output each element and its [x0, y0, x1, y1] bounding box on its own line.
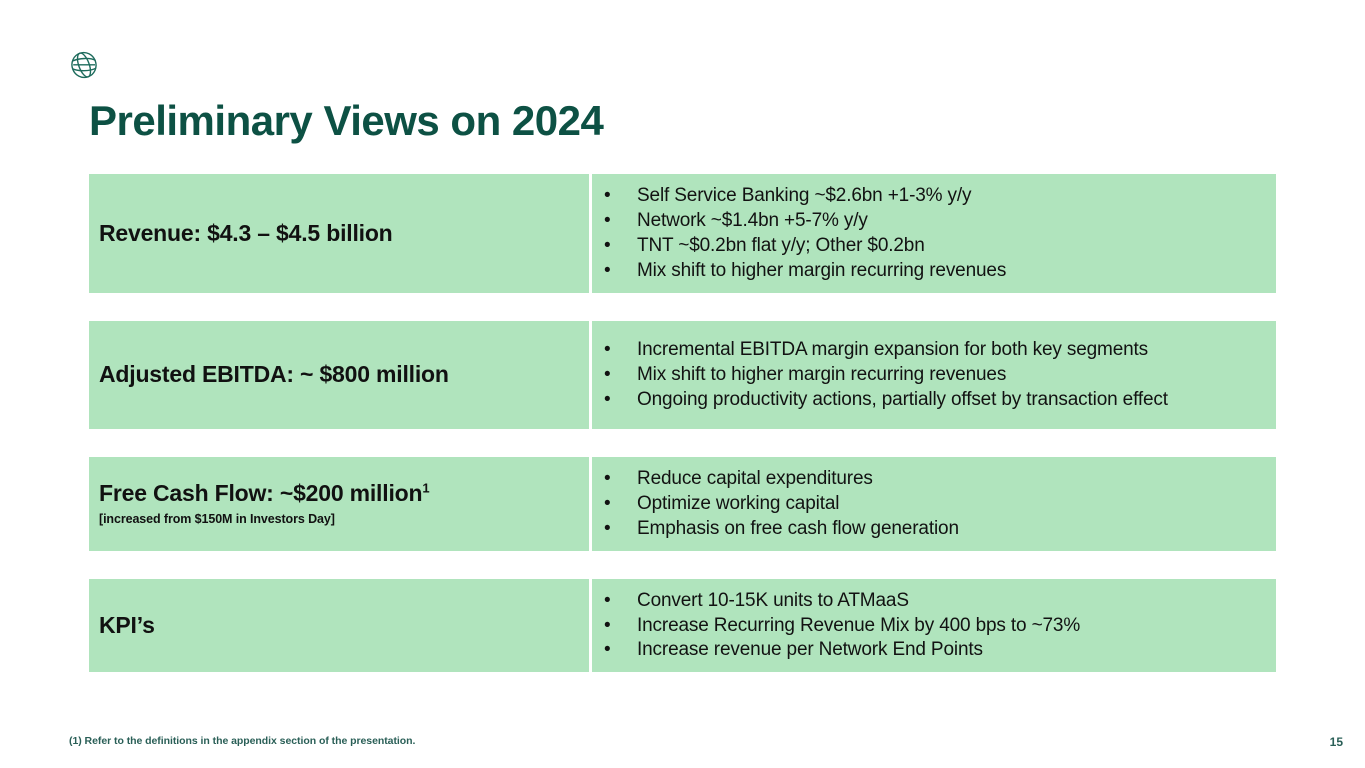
list-item: •TNT ~$0.2bn flat y/y; Other $0.2bn	[592, 234, 1264, 258]
page-title: Preliminary Views on 2024	[89, 98, 603, 144]
row-label-cell: Free Cash Flow: ~$200 million1 [increase…	[89, 457, 589, 551]
table-row: KPI’s •Convert 10-15K units to ATMaaS •I…	[89, 579, 1276, 673]
bullet-icon: •	[604, 363, 611, 387]
list-item-text: Mix shift to higher margin recurring rev…	[637, 364, 1006, 385]
list-item-text: Increase revenue per Network End Points	[637, 639, 983, 660]
list-item-text: Mix shift to higher margin recurring rev…	[637, 260, 1006, 281]
list-item: •Mix shift to higher margin recurring re…	[592, 259, 1264, 283]
table-row: Revenue: $4.3 – $4.5 billion •Self Servi…	[89, 174, 1276, 293]
list-item-text: Convert 10-15K units to ATMaaS	[637, 590, 909, 611]
bullet-icon: •	[604, 638, 611, 662]
row-bullets-cell: •Reduce capital expenditures •Optimize w…	[592, 457, 1276, 551]
row-label-cell: KPI’s	[89, 579, 589, 673]
list-item-text: Optimize working capital	[637, 493, 839, 514]
row-label: Revenue: $4.3 – $4.5 billion	[99, 220, 589, 248]
list-item: •Increase Recurring Revenue Mix by 400 b…	[592, 614, 1264, 638]
list-item-text: Reduce capital expenditures	[637, 468, 873, 489]
row-label-cell: Adjusted EBITDA: ~ $800 million	[89, 321, 589, 429]
bullet-list: •Convert 10-15K units to ATMaaS •Increas…	[592, 589, 1264, 663]
page-number: 15	[1330, 735, 1343, 749]
bullet-list: •Reduce capital expenditures •Optimize w…	[592, 467, 1264, 541]
list-item-text: Network ~$1.4bn +5-7% y/y	[637, 210, 868, 231]
content-rows: Revenue: $4.3 – $4.5 billion •Self Servi…	[89, 174, 1276, 672]
list-item: •Emphasis on free cash flow generation	[592, 517, 1264, 541]
row-label: KPI’s	[99, 612, 589, 640]
globe-logo	[69, 50, 99, 80]
list-item: •Self Service Banking ~$2.6bn +1-3% y/y	[592, 184, 1264, 208]
bullet-icon: •	[604, 234, 611, 258]
list-item-text: TNT ~$0.2bn flat y/y; Other $0.2bn	[637, 235, 925, 256]
bullet-icon: •	[604, 209, 611, 233]
row-bullets-cell: •Convert 10-15K units to ATMaaS •Increas…	[592, 579, 1276, 673]
list-item-text: Self Service Banking ~$2.6bn +1-3% y/y	[637, 185, 971, 206]
table-row: Free Cash Flow: ~$200 million1 [increase…	[89, 457, 1276, 551]
row-label: Free Cash Flow: ~$200 million1	[99, 480, 589, 508]
table-row: Adjusted EBITDA: ~ $800 million •Increme…	[89, 321, 1276, 429]
bullet-icon: •	[604, 184, 611, 208]
slide: Preliminary Views on 2024 Revenue: $4.3 …	[0, 0, 1365, 768]
list-item-text: Ongoing productivity actions, partially …	[637, 389, 1168, 410]
list-item: •Network ~$1.4bn +5-7% y/y	[592, 209, 1264, 233]
bullet-icon: •	[604, 467, 611, 491]
row-label-text: KPI’s	[99, 612, 155, 638]
bullet-list: •Incremental EBITDA margin expansion for…	[592, 338, 1264, 412]
row-label: Adjusted EBITDA: ~ $800 million	[99, 361, 589, 389]
list-item: •Optimize working capital	[592, 492, 1264, 516]
bullet-icon: •	[604, 388, 611, 412]
row-sublabel: [increased from $150M in Investors Day]	[99, 511, 589, 527]
row-bullets-cell: •Self Service Banking ~$2.6bn +1-3% y/y …	[592, 174, 1276, 293]
bullet-icon: •	[604, 259, 611, 283]
footnote-marker: 1	[422, 481, 429, 496]
bullet-icon: •	[604, 492, 611, 516]
list-item-text: Increase Recurring Revenue Mix by 400 bp…	[637, 615, 1080, 636]
list-item-text: Incremental EBITDA margin expansion for …	[637, 339, 1148, 360]
bullet-icon: •	[604, 338, 611, 362]
list-item: •Increase revenue per Network End Points	[592, 638, 1264, 662]
bullet-icon: •	[604, 589, 611, 613]
list-item: •Ongoing productivity actions, partially…	[592, 388, 1264, 412]
row-label-text: Free Cash Flow: ~$200 million	[99, 480, 422, 506]
bullet-list: •Self Service Banking ~$2.6bn +1-3% y/y …	[592, 184, 1264, 283]
bullet-icon: •	[604, 614, 611, 638]
row-label-cell: Revenue: $4.3 – $4.5 billion	[89, 174, 589, 293]
list-item-text: Emphasis on free cash flow generation	[637, 518, 959, 539]
row-label-text: Revenue: $4.3 – $4.5 billion	[99, 220, 393, 246]
list-item: •Mix shift to higher margin recurring re…	[592, 363, 1264, 387]
list-item: •Convert 10-15K units to ATMaaS	[592, 589, 1264, 613]
list-item: •Reduce capital expenditures	[592, 467, 1264, 491]
list-item: •Incremental EBITDA margin expansion for…	[592, 338, 1264, 362]
row-label-text: Adjusted EBITDA: ~ $800 million	[99, 361, 449, 387]
row-bullets-cell: •Incremental EBITDA margin expansion for…	[592, 321, 1276, 429]
footnote: (1) Refer to the definitions in the appe…	[69, 735, 415, 747]
bullet-icon: •	[604, 517, 611, 541]
